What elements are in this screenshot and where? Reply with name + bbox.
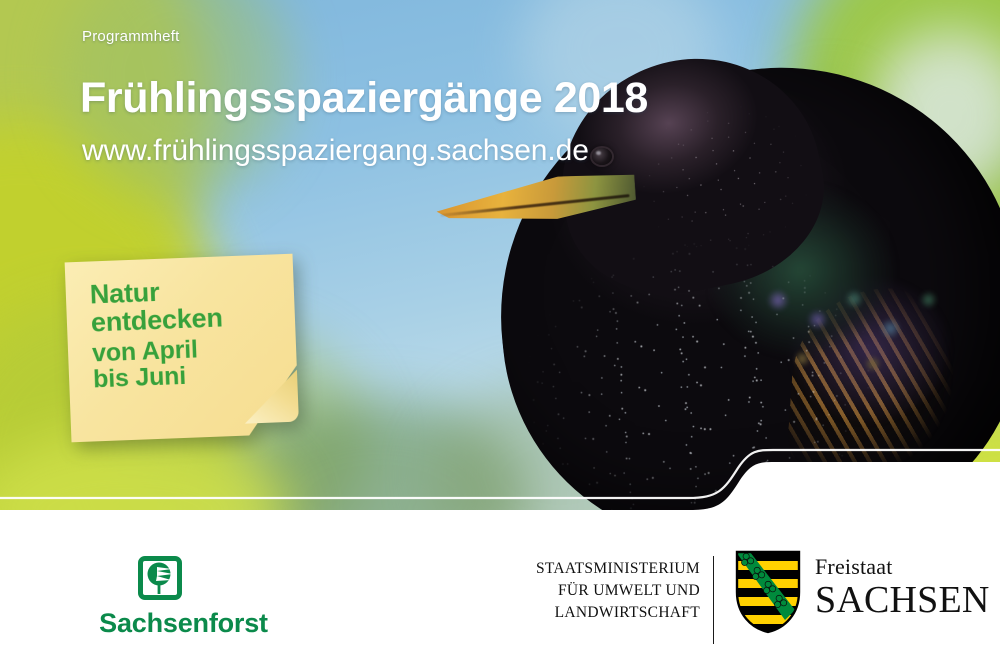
sachsenforst-wordmark: Sachsenforst [76, 608, 291, 639]
footer-logos: Sachsenforst STAATSMINISTERIUM FÜR UMWEL… [0, 510, 1000, 666]
tree-in-square-icon [138, 556, 182, 600]
sticky-note-text: Natur entdecken von April bis Juni [89, 274, 283, 392]
ministry-line-2: FÜR UMWELT UND [455, 580, 700, 602]
ministry-line-3: LANDWIRTSCHAFT [455, 602, 700, 624]
page-title: Frühlingsspaziergänge 2018 [80, 74, 648, 123]
kicker-label: Programmheft [82, 28, 179, 45]
brochure-cover: Programmheft Frühlingsspaziergänge 2018 … [0, 0, 1000, 666]
cover-photo: Programmheft Frühlingsspaziergänge 2018 … [0, 0, 1000, 510]
starling-bird-photo [410, 60, 1000, 510]
ministry-text: STAATSMINISTERIUM FÜR UMWELT UND LANDWIR… [455, 558, 700, 624]
sticky-line-2: entdecken [90, 302, 281, 337]
sachsen-label: SACHSEN [815, 581, 990, 620]
tree-glyph [143, 561, 177, 595]
freistaat-sachsen-logo[interactable]: Freistaat SACHSEN [735, 548, 965, 648]
freistaat-sachsen-wordmark: Freistaat SACHSEN [815, 556, 990, 620]
sachsenforst-logo[interactable]: Sachsenforst [76, 556, 291, 641]
bird-edge-blend [410, 60, 1000, 510]
sticky-note: Natur entdecken von April bis Juni [65, 254, 300, 443]
freistaat-label: Freistaat [815, 556, 990, 578]
saxony-coat-of-arms-icon [735, 550, 801, 634]
vertical-divider [713, 556, 714, 644]
ministry-line-1: STAATSMINISTERIUM [455, 558, 700, 580]
website-url[interactable]: www.frühlingsspaziergang.sachsen.de [82, 134, 589, 168]
